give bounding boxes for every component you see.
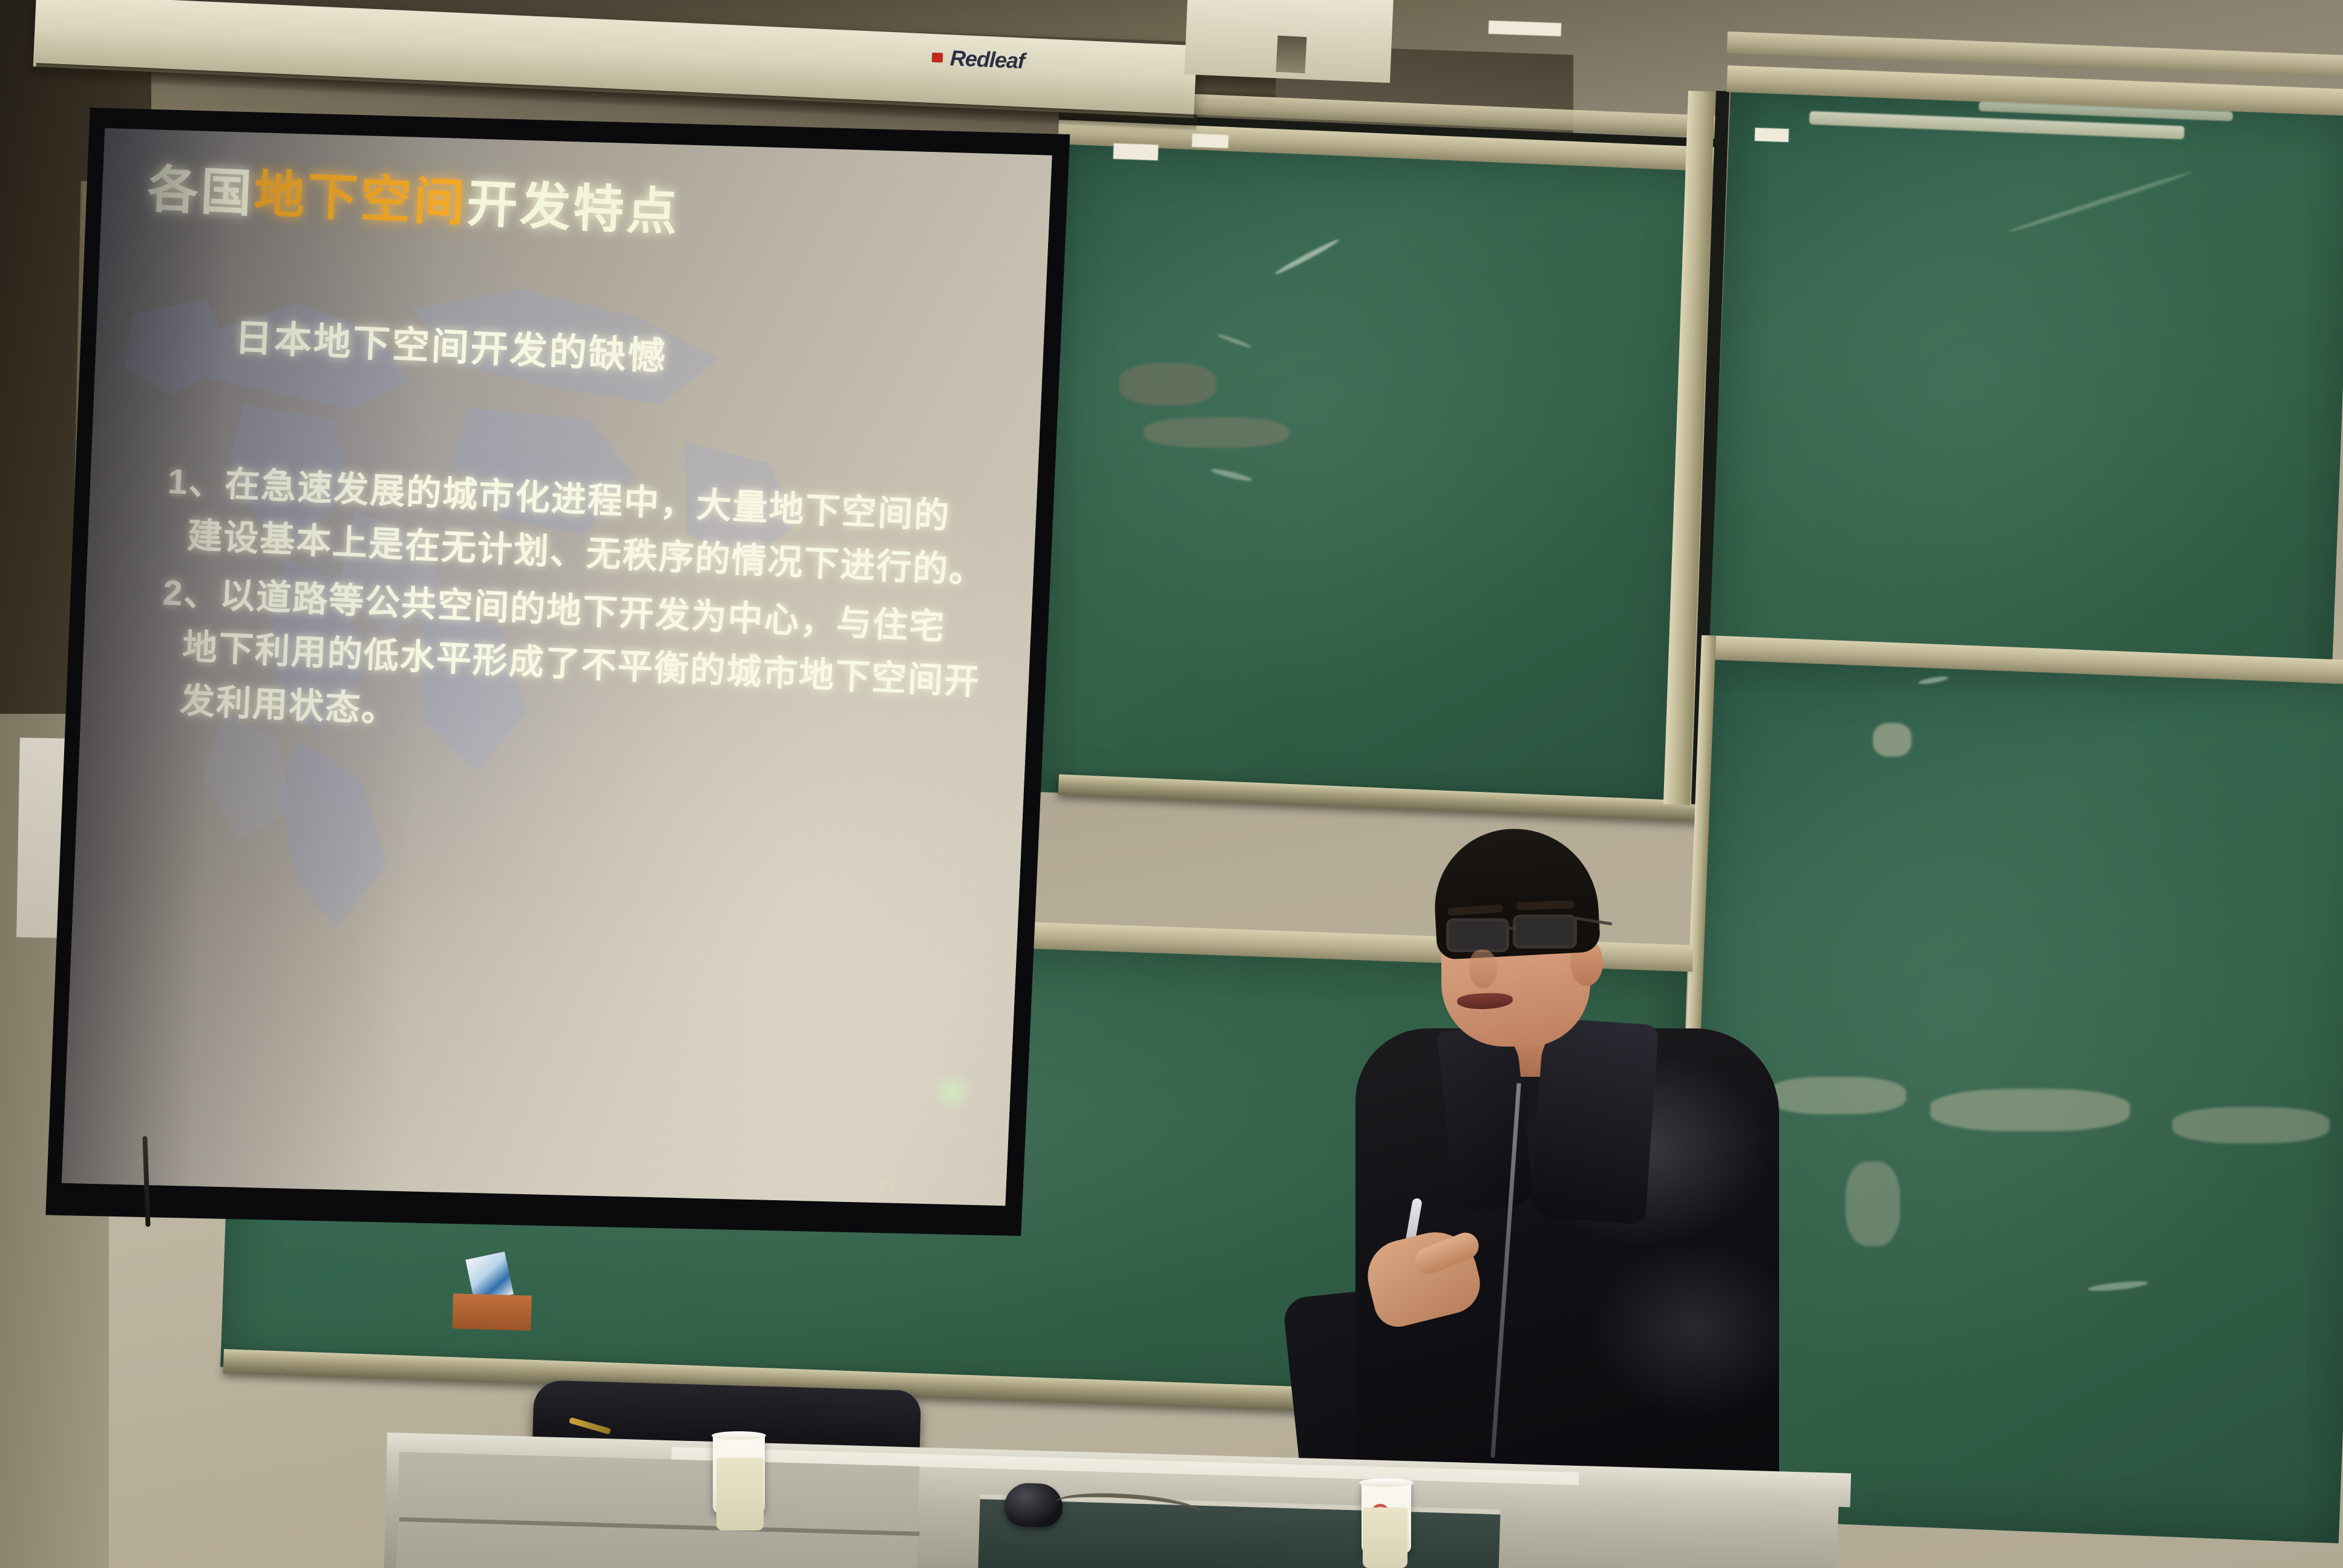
chalk-smudge-3	[1930, 1089, 2130, 1131]
podium-front-panel	[396, 1452, 919, 1568]
chalk-smudge-2	[1767, 1077, 1906, 1114]
housing-clip	[1276, 36, 1306, 73]
slide-title-prefix: 各国	[146, 160, 255, 222]
chalkboard-panel-upper-left	[1038, 139, 1706, 818]
slide-title-highlight: 地下空间	[253, 165, 468, 232]
chalk-smudge-7	[1144, 417, 1289, 448]
chalk-smudge-5	[1846, 1161, 1900, 1246]
slide-body: 1、在急速发展的城市化进程中，大量地下空间的 建设基本上是在无计划、无秩序的情况…	[157, 455, 1003, 768]
tape-mark-1	[1113, 143, 1159, 161]
brand-indicator-dot	[932, 53, 943, 63]
slide-page-number: 33	[875, 1177, 896, 1197]
projection-screen: 各国地下空间开发特点 日本地下空间开发的缺憾 1、在急速发展的城市化进程中，大量…	[41, 91, 1070, 1258]
paper-cup-left-front-shadow	[716, 1458, 764, 1530]
nose	[1469, 950, 1497, 988]
slide-bullet-2: 2、以道路等公共空间的地下开发为中心，与住宅 地下利用的低水平形成了不平衡的城市…	[157, 566, 998, 763]
classroom-photo: Redleaf	[0, 0, 2343, 1568]
computer-mouse[interactable]	[1004, 1482, 1063, 1527]
tape-mark-3	[1755, 128, 1789, 142]
eyeglasses-lens-right	[1513, 915, 1577, 949]
brand-plate: Redleaf	[931, 41, 1084, 80]
tape-mark-4	[1489, 21, 1562, 36]
jacket-collar-right	[1530, 1018, 1659, 1224]
tape-mark-2	[1192, 134, 1229, 148]
brand-label: Redleaf	[949, 45, 1025, 74]
chalk-smudge-1	[1873, 723, 1912, 757]
wooden-board-chip	[452, 1293, 531, 1330]
chalk-smudge-4	[2172, 1107, 2330, 1143]
slide-title-suffix: 开发特点	[465, 175, 681, 241]
slide-surface: 各国地下空间开发特点 日本地下空间开发的缺憾 1、在急速发展的城市化进程中，大量…	[58, 113, 1052, 1225]
lecturer	[1295, 829, 1755, 1568]
paper-cup-right-front-shadow	[1363, 1508, 1407, 1568]
chalk-smudge-6	[1119, 363, 1216, 405]
eyeglasses-bridge	[1508, 927, 1516, 930]
eyeglasses-lens-left	[1446, 918, 1509, 952]
